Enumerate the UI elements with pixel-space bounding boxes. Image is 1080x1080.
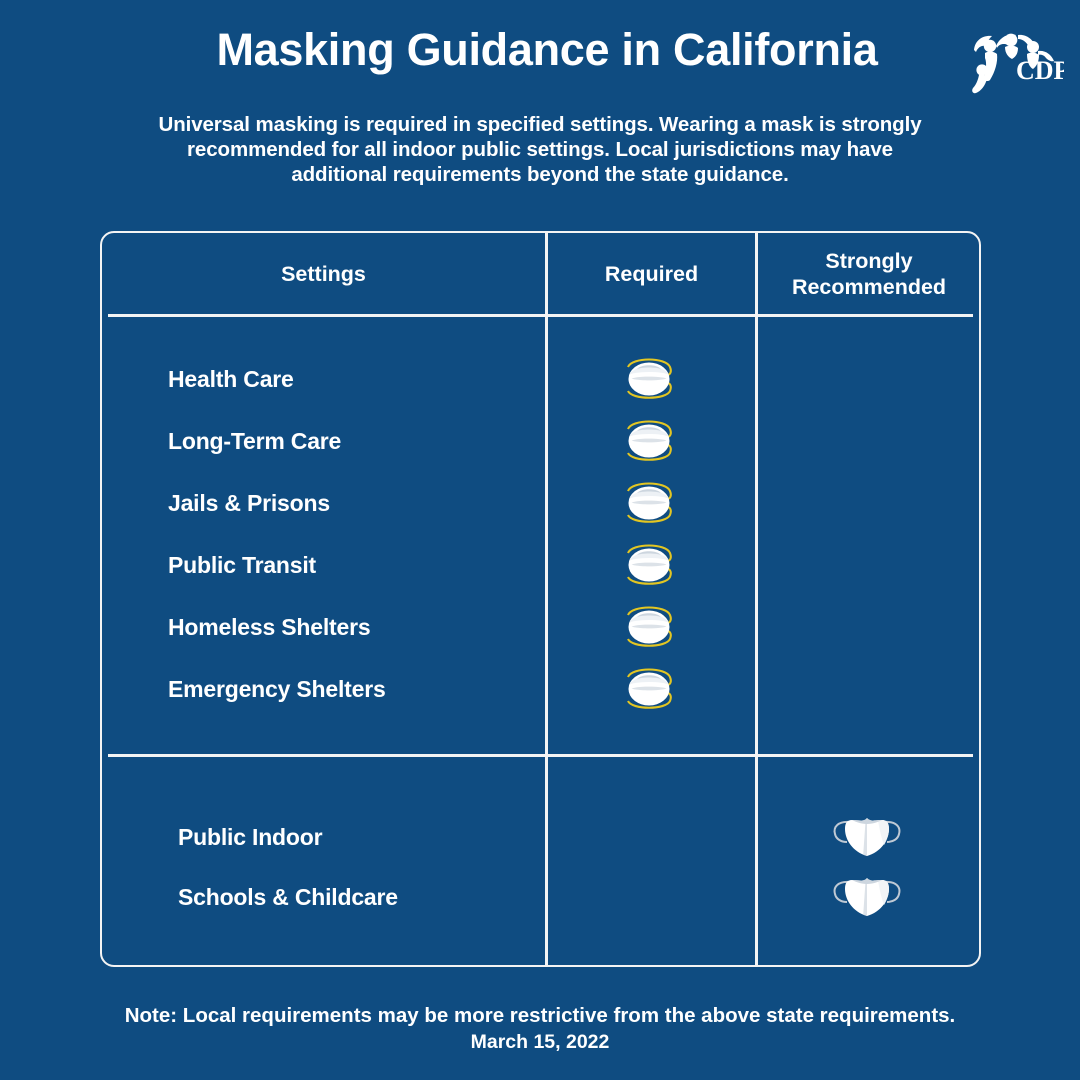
recommended-cell xyxy=(754,809,979,865)
table-row: Homeless Shelters xyxy=(102,596,979,658)
required-cell xyxy=(545,474,755,532)
n95-respirator-icon xyxy=(618,474,680,532)
required-section: Health Care Long-Ter xyxy=(102,316,979,754)
cdph-logo-text: CDPH xyxy=(1016,56,1064,85)
n95-respirator-icon xyxy=(618,598,680,656)
n95-respirator-icon xyxy=(618,350,680,408)
column-header-line-2: Recommended xyxy=(792,275,946,299)
table-row: Emergency Shelters xyxy=(102,658,979,720)
setting-label: Jails & Prisons xyxy=(102,490,545,517)
required-cell xyxy=(545,350,755,408)
recommended-cell xyxy=(754,869,979,925)
required-cell xyxy=(545,412,755,470)
infographic-poster: Masking Guidance in California xyxy=(0,0,1080,1080)
masking-guidance-table: Settings Required Strongly Recommended H… xyxy=(100,231,981,967)
subtitle: Universal masking is required in specifi… xyxy=(112,112,968,187)
n95-respirator-icon xyxy=(618,536,680,594)
subtitle-line-1: Universal masking is required in specifi… xyxy=(112,112,968,137)
setting-label: Long-Term Care xyxy=(102,428,545,455)
setting-label: Homeless Shelters xyxy=(102,614,545,641)
setting-label: Public Transit xyxy=(102,552,545,579)
table-row: Jails & Prisons xyxy=(102,472,979,534)
column-header-settings: Settings xyxy=(102,233,545,314)
column-header-required: Required xyxy=(548,233,755,314)
setting-label: Public Indoor xyxy=(102,824,545,851)
table-row: Health Care xyxy=(102,348,979,410)
n95-respirator-icon xyxy=(618,412,680,470)
required-cell xyxy=(545,598,755,656)
n95-respirator-icon xyxy=(618,660,680,718)
required-cell xyxy=(545,536,755,594)
table-row: Public Indoor xyxy=(102,806,979,868)
subtitle-line-3: additional requirements beyond the state… xyxy=(112,162,968,187)
kn95-mask-icon xyxy=(830,869,904,925)
strongly-recommended-section: Public Indoor School xyxy=(102,757,979,966)
kn95-mask-icon xyxy=(830,809,904,865)
column-header-line-1: Strongly xyxy=(825,249,912,273)
setting-label: Emergency Shelters xyxy=(102,676,545,703)
setting-label: Health Care xyxy=(102,366,545,393)
required-cell xyxy=(545,660,755,718)
footer-date: March 15, 2022 xyxy=(0,1029,1080,1056)
page-title: Masking Guidance in California xyxy=(0,24,1080,76)
table-row: Long-Term Care xyxy=(102,410,979,472)
cdph-logo: CDPH xyxy=(960,20,1064,96)
setting-label: Schools & Childcare xyxy=(102,884,545,911)
subtitle-line-2: recommended for all indoor public settin… xyxy=(112,137,968,162)
footer-note: Note: Local requirements may be more res… xyxy=(0,1002,1080,1056)
column-header-strongly-recommended: Strongly Recommended xyxy=(758,233,980,314)
footer-note-text: Note: Local requirements may be more res… xyxy=(0,1002,1080,1029)
table-row: Public Transit xyxy=(102,534,979,596)
table-row: Schools & Childcare xyxy=(102,866,979,928)
